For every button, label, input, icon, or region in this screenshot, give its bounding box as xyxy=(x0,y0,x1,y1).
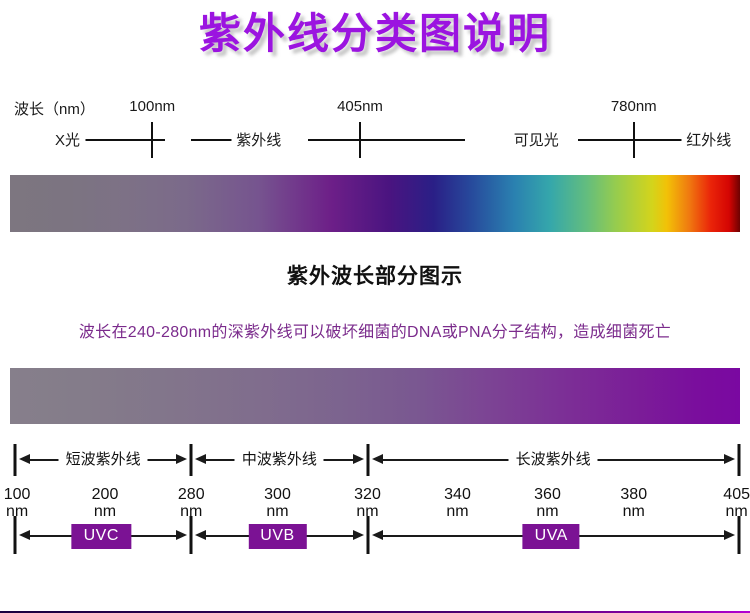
uv-scale-value: 380 xyxy=(620,486,647,503)
region-label-visible: 可见光 xyxy=(509,129,564,150)
ruler-tick-label-100nm: 100nm xyxy=(129,98,175,115)
description-text: 波长在240-280nm的深紫外线可以破坏细菌的DNA或PNA分子结构，造成细菌… xyxy=(0,318,750,342)
uv-scale-label-200: 200 nm xyxy=(92,487,119,521)
ruler-tick-100nm xyxy=(151,122,153,158)
uv-scale-unit: nm xyxy=(92,504,119,521)
electromagnetic-spectrum-ruler: 波长（nm） 100nm 405nm 780nm X光 紫外线 可见光 红外线 xyxy=(0,96,750,168)
region-label-uv: 紫外线 xyxy=(231,129,286,150)
uv-scale-value: 100 xyxy=(4,486,31,503)
status-badge-uvb[interactable]: UVB xyxy=(248,524,306,549)
uv-spectrum-gradient-bar xyxy=(10,368,740,424)
uv-scale-unit: nm xyxy=(264,504,291,521)
status-badge-uva[interactable]: UVA xyxy=(523,524,580,549)
uv-scale-value: 340 xyxy=(444,486,471,503)
uv-band-arrow-shortwave: 短波紫外线 xyxy=(15,450,191,470)
wavelength-axis-caption: 波长（nm） xyxy=(14,98,95,119)
uv-scale-value: 360 xyxy=(534,486,561,503)
axis-segment-visible-ir-right xyxy=(634,139,683,141)
axis-segment-uv-visible xyxy=(308,139,466,141)
axis-segment-visible-ir-left xyxy=(578,139,637,141)
uv-scale-value: 405 xyxy=(723,486,750,503)
uv-scale-value: 320 xyxy=(354,486,381,503)
ruler-tick-label-405nm: 405nm xyxy=(337,98,383,115)
uv-scale-unit: nm xyxy=(4,504,31,521)
uv-band-label-longwave: 长波紫外线 xyxy=(509,448,598,469)
uv-scale-label-340: 340 nm xyxy=(444,487,471,521)
arrow-right-icon xyxy=(353,530,364,540)
uv-scale-label-360: 360 nm xyxy=(534,487,561,521)
uv-scale-unit: nm xyxy=(620,504,647,521)
uv-scale-unit: nm xyxy=(444,504,471,521)
arrow-right-icon xyxy=(176,530,187,540)
region-label-xray: X光 xyxy=(50,129,85,150)
arrow-right-icon xyxy=(724,454,735,464)
section-title: 紫外波长部分图示 xyxy=(0,260,750,290)
uv-scale-label-380: 380 nm xyxy=(620,487,647,521)
uv-band-arrow-longwave: 长波紫外线 xyxy=(368,450,739,470)
uv-scale-label-300: 300 nm xyxy=(264,487,291,521)
ruler-tick-405nm xyxy=(359,122,361,158)
uv-scale-value: 280 xyxy=(178,486,205,503)
page-title: 紫外线分类图说明 xyxy=(0,10,750,66)
arrow-right-icon xyxy=(724,530,735,540)
uv-scale-label-100: 100 nm xyxy=(4,487,31,521)
arrow-right-icon xyxy=(176,454,187,464)
uv-scale-value: 300 xyxy=(264,486,291,503)
ruler-tick-label-780nm: 780nm xyxy=(611,98,657,115)
arrow-right-icon xyxy=(353,454,364,464)
uv-scale-unit: nm xyxy=(534,504,561,521)
uv-band-label-shortwave: 短波紫外线 xyxy=(59,448,148,469)
status-badge-uvc[interactable]: UVC xyxy=(72,524,131,549)
uv-scale-value: 200 xyxy=(92,486,119,503)
region-label-infrared: 红外线 xyxy=(681,129,736,150)
full-spectrum-gradient-bar xyxy=(10,175,740,232)
uv-band-arrow-midwave: 中波紫外线 xyxy=(191,450,367,470)
ruler-tick-780nm xyxy=(633,122,635,158)
uv-band-label-midwave: 中波紫外线 xyxy=(235,448,324,469)
